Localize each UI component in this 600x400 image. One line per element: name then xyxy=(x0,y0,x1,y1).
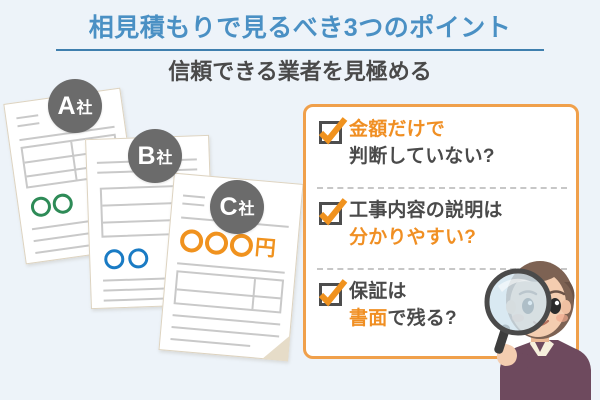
amount-circle-b xyxy=(104,249,125,270)
badge-initial-c: C xyxy=(219,193,237,222)
cheek-right xyxy=(556,314,568,322)
checkbox-checked-icon[interactable] xyxy=(317,119,344,146)
header: 相見積もりで見るべき3つのポイント 信頼できる業者を見極める xyxy=(0,0,600,96)
checkbox-checked-icon[interactable] xyxy=(317,200,344,227)
checklist-item-3-text: 保証は 書面で残る? xyxy=(349,278,457,332)
checklist-item-1-text: 金額だけで 判断していない? xyxy=(349,116,495,170)
amount-circle-a2 xyxy=(51,192,74,215)
amount-circle-b2 xyxy=(128,248,149,269)
badge-initial-a: A xyxy=(57,92,75,121)
page-title: 相見積もりで見るべき3つのポイント xyxy=(0,12,600,44)
character-illustration xyxy=(476,252,600,400)
item1-line1-highlight: 金額だけで xyxy=(349,119,445,140)
infographic-canvas: 相見積もりで見るべき3つのポイント 信頼できる業者を見極める A社 xyxy=(0,0,600,400)
amount-unit-c: 円 xyxy=(254,237,277,260)
badge-suffix-c: 社 xyxy=(239,195,255,219)
amount-circle-c2 xyxy=(204,231,229,256)
amount-circle-a xyxy=(30,195,53,218)
checklist-item-1[interactable]: 金額だけで 判断していない? xyxy=(317,116,568,170)
checklist-item-2-text: 工事内容の説明は 分かりやすい? xyxy=(349,197,503,251)
company-badge-b: B社 xyxy=(128,129,182,183)
title-divider xyxy=(56,49,544,51)
page-fold-corner xyxy=(262,333,290,361)
checklist-item-2[interactable]: 工事内容の説明は 分かりやすい? xyxy=(317,197,568,251)
badge-suffix-a: 社 xyxy=(77,94,93,118)
page-subtitle: 信頼できる業者を見極める xyxy=(0,57,600,87)
amount-circle-c1 xyxy=(179,229,204,254)
item2-line1-plain: 工事内容の説明は xyxy=(349,200,503,221)
company-badge-c: C社 xyxy=(210,180,264,234)
badge-suffix-b: 社 xyxy=(157,144,173,168)
item3-line2-highlight: 書面 xyxy=(349,308,387,329)
ear-right xyxy=(561,300,571,314)
checkbox-checked-icon[interactable] xyxy=(317,281,344,308)
item1-line2-plain: 判断していない? xyxy=(349,146,495,167)
item3-line1-plain: 保証は xyxy=(349,281,407,302)
amount-circle-c3 xyxy=(229,233,254,258)
item2-line2-highlight: 分かりやすい? xyxy=(349,227,476,248)
company-badge-a: A社 xyxy=(48,79,102,133)
checklist-separator-1 xyxy=(317,187,567,189)
badge-initial-b: B xyxy=(137,142,155,171)
item3-line2-plain: で残る? xyxy=(387,308,456,329)
